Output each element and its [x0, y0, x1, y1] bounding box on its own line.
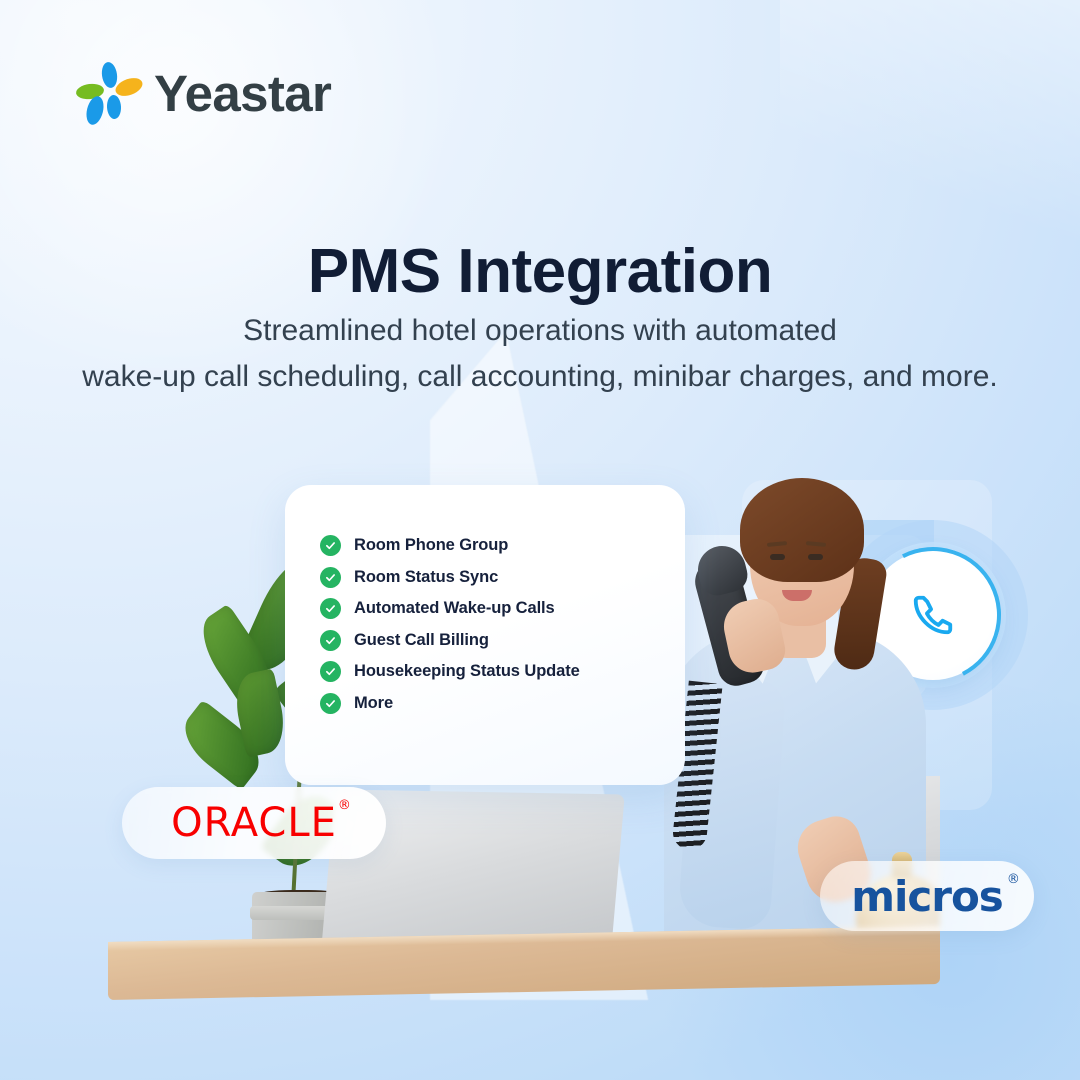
feature-label: Guest Call Billing: [354, 631, 489, 650]
partner-badge-oracle[interactable]: ORACLE®: [122, 787, 386, 859]
feature-label: More: [354, 694, 393, 713]
micros-registered-mark: ®: [1007, 872, 1019, 887]
feature-label: Automated Wake-up Calls: [354, 599, 555, 618]
page-title: PMS Integration: [0, 239, 1080, 304]
list-item: Room Phone Group: [320, 530, 650, 562]
receptionist-eye: [808, 554, 823, 560]
check-circle-icon: [320, 598, 341, 619]
feature-label: Room Status Sync: [354, 568, 498, 587]
micros-label: micros: [851, 872, 1003, 921]
feature-label: Room Phone Group: [354, 536, 508, 555]
subtitle-line-1: Streamlined hotel operations with automa…: [0, 308, 1080, 354]
oracle-label: ORACLE: [171, 800, 337, 846]
list-item: Room Status Sync: [320, 562, 650, 594]
oracle-registered-mark: ®: [338, 798, 352, 813]
receptionist-eye: [770, 554, 785, 560]
brand-logo[interactable]: Yeastar: [78, 62, 331, 124]
logo-petal-top: [100, 61, 118, 89]
list-item: More: [320, 688, 650, 720]
logo-petal-bottom-left: [84, 94, 107, 126]
feature-list: Room Phone Group Room Status Sync Automa…: [320, 530, 650, 719]
check-circle-icon: [320, 567, 341, 588]
logo-petal-bottom-center: [106, 95, 121, 120]
list-item: Housekeeping Status Update: [320, 656, 650, 688]
check-circle-icon: [320, 693, 341, 714]
page-subtitle: Streamlined hotel operations with automa…: [0, 308, 1080, 399]
oracle-wordmark: ORACLE®: [171, 800, 337, 846]
check-circle-icon: [320, 535, 341, 556]
hero-scene: Room Phone Group Room Status Sync Automa…: [0, 440, 1080, 1080]
receptionist-hair: [740, 478, 864, 582]
brand-wordmark: Yeastar: [154, 68, 331, 119]
list-item: Guest Call Billing: [320, 625, 650, 657]
poster-canvas: Yeastar PMS Integration Streamlined hote…: [0, 0, 1080, 1080]
list-item: Automated Wake-up Calls: [320, 593, 650, 625]
yeastar-flower-logo-icon: [78, 62, 140, 124]
partner-badge-micros[interactable]: micros®: [820, 861, 1034, 931]
feature-label: Housekeeping Status Update: [354, 662, 580, 681]
subtitle-line-2: wake-up call scheduling, call accounting…: [0, 354, 1080, 400]
check-circle-icon: [320, 630, 341, 651]
logo-petal-right: [113, 75, 145, 100]
micros-wordmark: micros®: [851, 872, 1003, 921]
check-circle-icon: [320, 661, 341, 682]
